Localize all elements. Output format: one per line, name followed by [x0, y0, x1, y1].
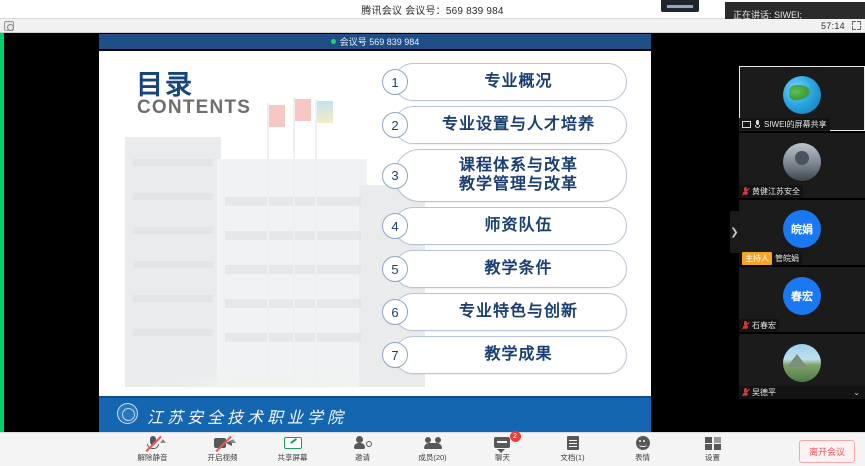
- contents-item[interactable]: 专业设置与人才培养 2: [382, 106, 627, 144]
- participant-tile[interactable]: 皖娟 主持人 管皖娟: [739, 200, 865, 265]
- invite-label: 邀请: [355, 452, 370, 463]
- participant-name: SIWEI的屏幕共享: [764, 119, 827, 130]
- emoji-icon: [634, 436, 652, 451]
- avatar: 皖娟: [783, 210, 821, 248]
- participant-name: 石春宏: [752, 320, 776, 331]
- contents-item-number: 2: [382, 112, 408, 138]
- mute-button[interactable]: 解除静音: [129, 434, 177, 466]
- fullscreen-icon[interactable]: [852, 21, 861, 30]
- contents-item-label: 师资队伍: [468, 217, 552, 236]
- camera-off-icon: [214, 436, 232, 451]
- chat-label: 聊天: [495, 452, 510, 463]
- participant-tile[interactable]: 吴德平 ⌄: [739, 334, 865, 399]
- contents-item-number: 3: [382, 163, 408, 189]
- screen-share-icon: [742, 121, 751, 128]
- meeting-number-text: 会议号 569 839 984: [340, 35, 420, 48]
- contents-item[interactable]: 专业概况 1: [382, 63, 627, 101]
- leave-meeting-button[interactable]: 离开会议: [799, 440, 855, 463]
- settings-button[interactable]: 设置: [689, 434, 737, 466]
- emoji-button[interactable]: 表情: [619, 434, 667, 466]
- chat-unread-badge: 2: [510, 431, 521, 442]
- contents-item-number: 7: [382, 342, 408, 368]
- mic-muted-icon: [742, 187, 749, 196]
- participant-name: 吴德平: [752, 387, 776, 398]
- contents-item-label: 专业设置与人才培养: [426, 116, 595, 135]
- participants-icon: [424, 436, 442, 451]
- document-button[interactable]: 文档(1): [549, 434, 597, 466]
- contents-item-number: 4: [382, 213, 408, 239]
- participants-button[interactable]: 成员(20): [409, 434, 457, 466]
- participant-tile[interactable]: 春宏 石春宏: [739, 267, 865, 332]
- avatar: [783, 143, 821, 181]
- avatar-initials: 春宏: [783, 277, 821, 315]
- shared-screen-view[interactable]: 会议号 569 839 984: [4, 33, 735, 432]
- meeting-number-bar: 会议号 569 839 984: [99, 34, 651, 49]
- meeting-stage: 会议号 569 839 984: [0, 33, 865, 432]
- avatar: 春宏: [783, 277, 821, 315]
- recording-dot-icon: [331, 39, 336, 44]
- meeting-timer: 57:14: [821, 21, 845, 31]
- slide-footer: 江苏安全技术职业学院: [99, 396, 651, 432]
- document-label: 文档(1): [560, 452, 584, 463]
- participants-label: 成员(20): [418, 452, 446, 463]
- presentation-slide: 目录 CONTENTS 专业概况 1 专业设置与人才培养 2 课程体系与改革 教…: [99, 51, 651, 432]
- contents-item[interactable]: 师资队伍 4: [382, 207, 627, 245]
- video-label: 开启视频: [208, 452, 238, 463]
- meeting-toolbar: 解除静音 开启视频 共享屏幕 邀请 成员(20): [0, 432, 865, 466]
- invite-button[interactable]: 邀请: [339, 434, 387, 466]
- contents-item[interactable]: 教学成果 7: [382, 336, 627, 374]
- mic-muted-icon: [742, 321, 749, 330]
- share-screen-icon: [284, 436, 302, 451]
- school-logo-icon: [117, 403, 138, 424]
- utility-strip: 57:14: [0, 19, 865, 33]
- document-icon: [564, 436, 582, 451]
- mic-icon: [754, 120, 761, 129]
- chevron-down-icon[interactable]: ⌄: [853, 388, 862, 397]
- contents-item-label: 专业概况: [468, 73, 552, 92]
- avatar: [783, 344, 821, 382]
- chat-button[interactable]: 2 聊天: [479, 434, 527, 466]
- collapse-rail-button[interactable]: ❯: [730, 211, 739, 253]
- contents-item-number: 1: [382, 69, 408, 95]
- window-controls[interactable]: [661, 0, 699, 12]
- participant-name: 管皖娟: [775, 253, 799, 264]
- share-screen-button[interactable]: 共享屏幕: [269, 434, 317, 466]
- meeting-window: 腾讯会议 会议号：569 839 984 正在讲话: SIWEI; 57:14 …: [0, 0, 865, 466]
- host-badge: 主持人: [742, 252, 772, 265]
- contents-item-label: 教学成果: [468, 346, 552, 365]
- mic-muted-icon: [144, 436, 162, 451]
- school-name: 江苏安全技术职业学院: [147, 404, 347, 428]
- video-button[interactable]: 开启视频: [199, 434, 247, 466]
- contents-item-number: 6: [382, 299, 408, 325]
- invite-icon: [354, 436, 372, 451]
- settings-label: 设置: [705, 452, 720, 463]
- emoji-label: 表情: [635, 452, 650, 463]
- mic-muted-icon: [742, 388, 749, 397]
- campus-photo: [107, 97, 427, 397]
- contents-item-label: 教学条件: [468, 260, 552, 279]
- contents-list: 专业概况 1 专业设置与人才培养 2 课程体系与改革 教学管理与改革 3 师资队…: [382, 63, 627, 379]
- contents-item-label: 专业特色与创新: [443, 303, 578, 322]
- contents-item[interactable]: 专业特色与创新 6: [382, 293, 627, 331]
- participant-name: 黄健江苏安全: [752, 186, 800, 197]
- contents-item[interactable]: 教学条件 5: [382, 250, 627, 288]
- gear-icon[interactable]: [4, 21, 14, 31]
- avatar: [783, 76, 821, 114]
- participant-rail: SIWEI的屏幕共享 黄健江苏安全 皖娟 主持人 管皖娟 春宏: [739, 66, 865, 465]
- window-title: 腾讯会议 会议号：569 839 984: [361, 2, 503, 17]
- slide-title-en: CONTENTS: [137, 97, 251, 119]
- avatar-initials: 皖娟: [783, 210, 821, 248]
- chat-icon: [494, 436, 512, 451]
- participant-tile[interactable]: 黄健江苏安全: [739, 133, 865, 198]
- share-screen-label: 共享屏幕: [278, 452, 308, 463]
- mute-label: 解除静音: [138, 452, 168, 463]
- contents-item-number: 5: [382, 256, 408, 282]
- settings-grid-icon: [704, 436, 722, 451]
- contents-item-label: 课程体系与改革 教学管理与改革: [443, 157, 578, 195]
- contents-item[interactable]: 课程体系与改革 教学管理与改革 3: [382, 149, 627, 202]
- participant-tile[interactable]: SIWEI的屏幕共享: [739, 66, 865, 131]
